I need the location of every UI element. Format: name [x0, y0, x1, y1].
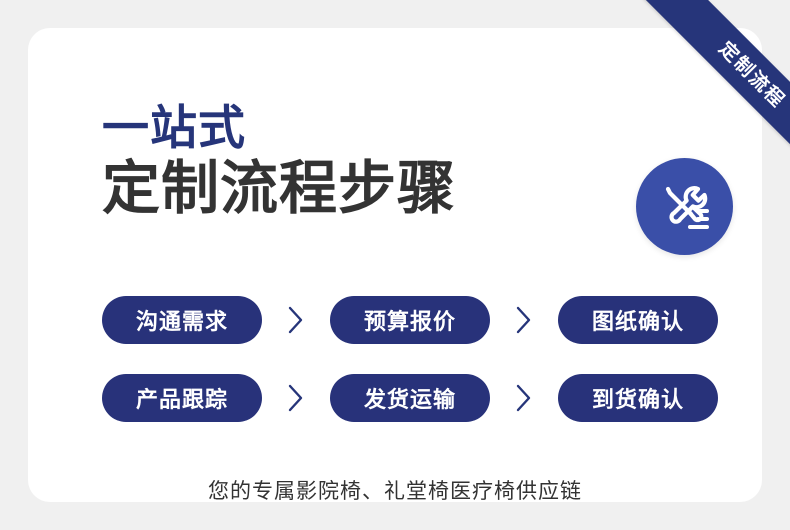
chevron-right-icon — [262, 383, 330, 413]
step-pill-arrival-confirmation[interactable]: 到货确认 — [558, 374, 718, 422]
chevron-right-icon — [490, 305, 558, 335]
step-row: 产品跟踪 发货运输 到货确认 — [102, 374, 718, 422]
headline-block: 一站式 定制流程步骤 — [102, 104, 456, 222]
subtitle-text: 一站式 — [102, 104, 456, 151]
step-row: 沟通需求 预算报价 图纸确认 — [102, 296, 718, 344]
step-pill-product-tracking[interactable]: 产品跟踪 — [102, 374, 262, 422]
step-pill-budget-quote[interactable]: 预算报价 — [330, 296, 490, 344]
page-title: 定制流程步骤 — [102, 157, 456, 222]
step-pill-drawing-confirmation[interactable]: 图纸确认 — [558, 296, 718, 344]
step-pill-shipping-transport[interactable]: 发货运输 — [330, 374, 490, 422]
wrench-screwdriver-icon — [657, 179, 713, 235]
white-card: 一站式 定制流程步骤 — [28, 28, 762, 502]
footer-caption: 您的专属影院椅、礼堂椅医疗椅供应链 — [28, 475, 762, 502]
promo-banner: 一站式 定制流程步骤 — [0, 0, 790, 530]
tool-badge — [636, 158, 733, 255]
step-flow: 沟通需求 预算报价 图纸确认 产品跟踪 — [102, 296, 718, 422]
chevron-right-icon — [262, 305, 330, 335]
chevron-right-icon — [490, 383, 558, 413]
step-pill-communicate-requirements[interactable]: 沟通需求 — [102, 296, 262, 344]
